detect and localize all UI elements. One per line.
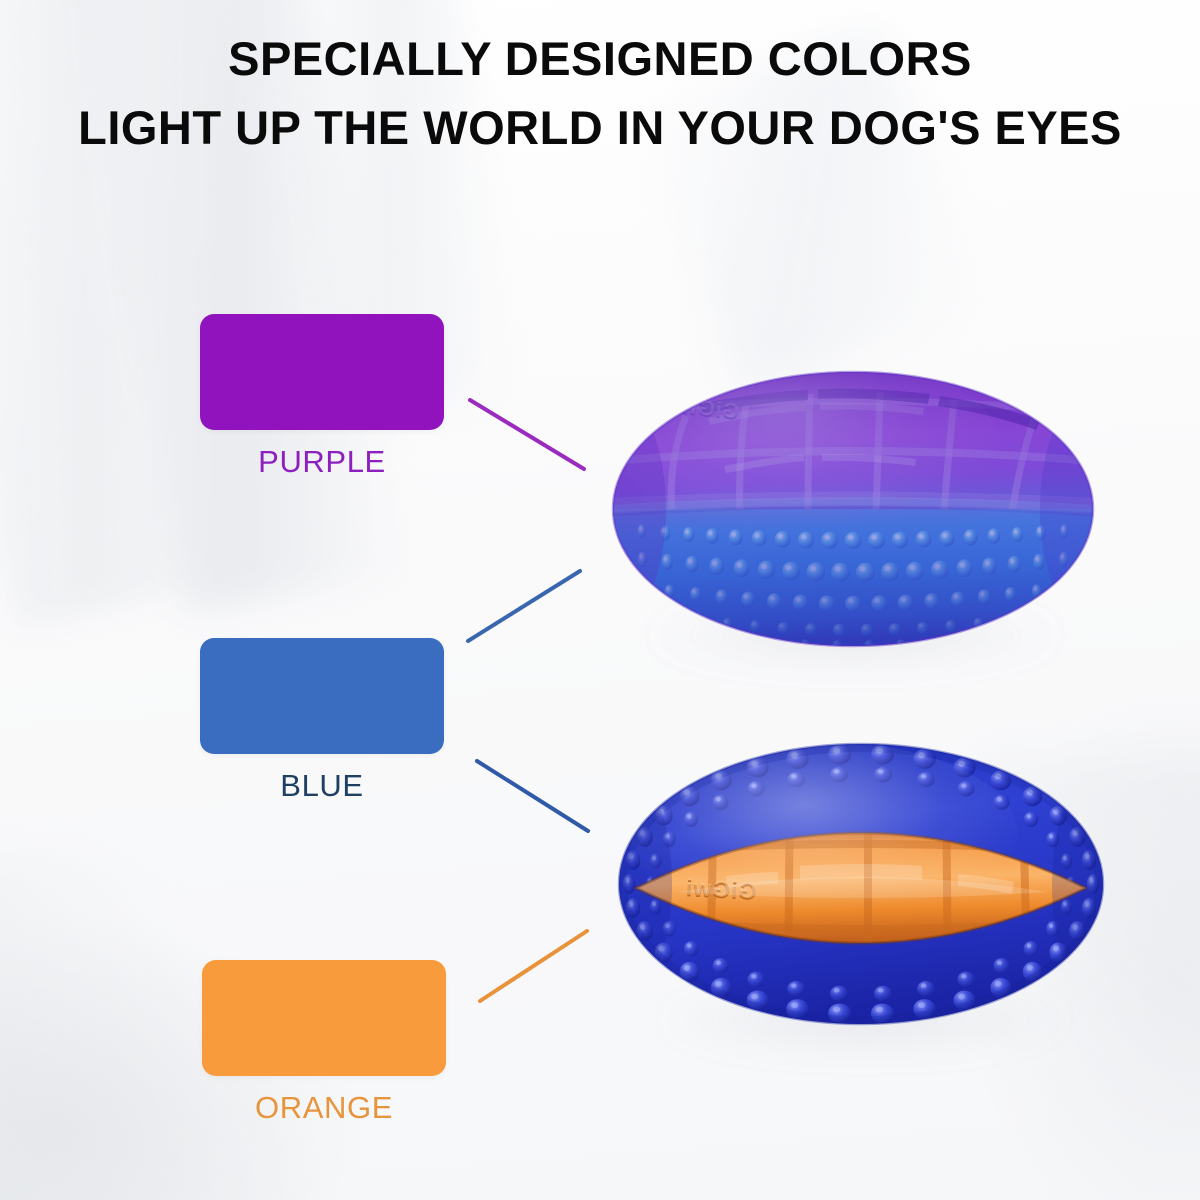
ball-body: GiGwi GiGwi <box>584 742 1140 1024</box>
product-image-orange-blue-ball: GiGwi GiGwi <box>618 742 1104 1026</box>
orange-connector-line <box>480 931 587 1001</box>
ball-body: GiGwi GiGwi <box>574 354 1132 649</box>
color-swatch-orange[interactable] <box>202 960 446 1076</box>
headline-line-2: LIGHT UP THE WORLD IN YOUR DOG'S EYES <box>0 103 1200 154</box>
color-label-orange: ORANGE <box>202 1092 446 1123</box>
color-swatch-purple[interactable] <box>200 314 444 430</box>
headline-line-1: SPECIALLY DESIGNED COLORS <box>0 34 1200 85</box>
legend-item-orange[interactable]: ORANGE <box>202 960 446 1123</box>
infographic-canvas: SPECIALLY DESIGNED COLORS LIGHT UP THE W… <box>0 0 1200 1200</box>
headline-block: SPECIALLY DESIGNED COLORS LIGHT UP THE W… <box>0 34 1200 154</box>
purple-connector-line <box>470 400 584 469</box>
color-label-purple: PURPLE <box>200 446 444 477</box>
legend-item-purple[interactable]: PURPLE <box>200 314 444 477</box>
blue-connector-upper-line <box>468 571 580 641</box>
product-image-purple-blue-ball: GiGwi GiGwi <box>612 370 1094 648</box>
color-label-blue: BLUE <box>200 770 444 801</box>
color-swatch-blue[interactable] <box>200 638 444 754</box>
legend-item-blue[interactable]: BLUE <box>200 638 444 801</box>
blue-connector-lower-line <box>477 761 588 831</box>
